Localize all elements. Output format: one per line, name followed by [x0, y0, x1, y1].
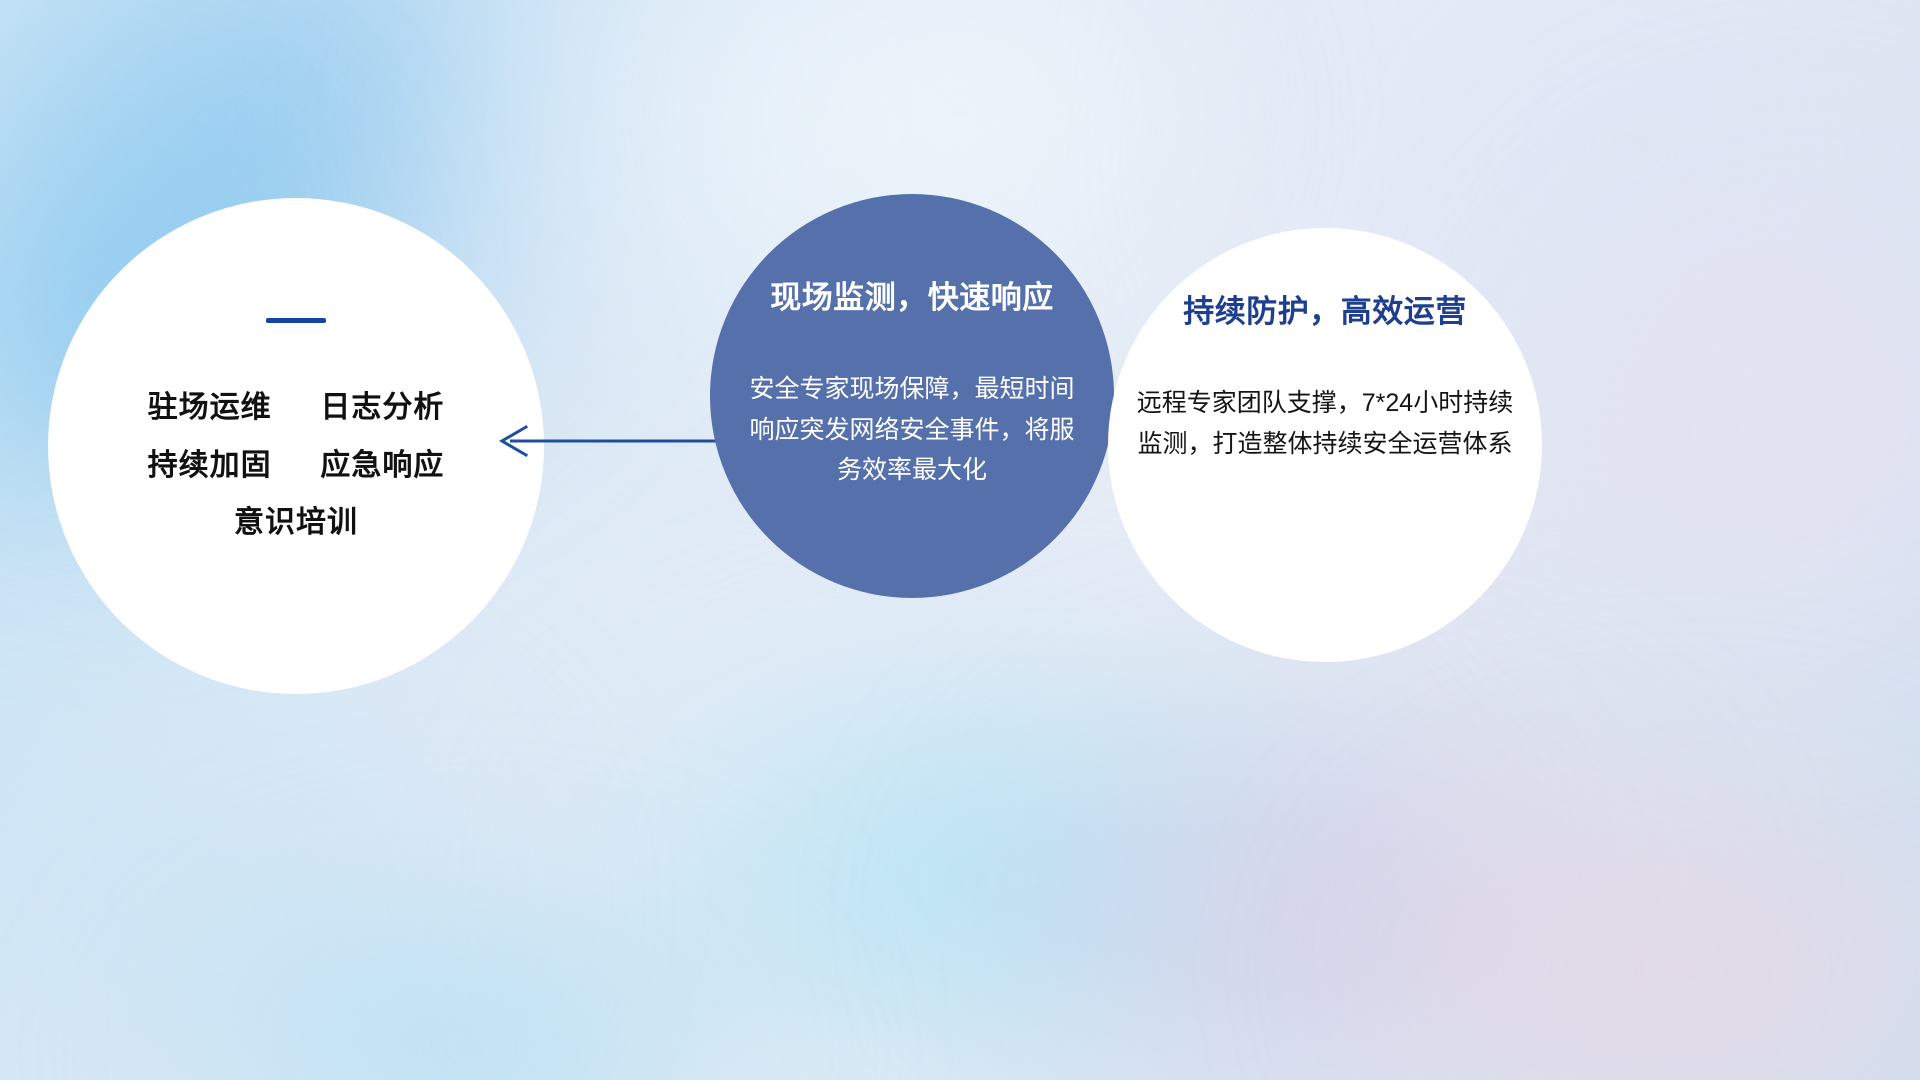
capabilities-list: 驻场运维 日志分析 持续加固 应急响应 意识培训: [148, 379, 445, 552]
capability-item-2: 日志分析: [320, 391, 444, 424]
capability-item-3: 持续加固: [148, 449, 272, 482]
capabilities-row: 持续加固 应急响应: [148, 437, 445, 495]
onsite-monitoring-circle: 现场监测，快速响应 安全专家现场保障，最短时间响应突发网络安全事件，将服务效率最…: [710, 194, 1114, 598]
onsite-monitoring-title: 现场监测，快速响应: [770, 272, 1054, 317]
capability-item-1: 驻场运维: [148, 391, 272, 424]
continuous-protection-body: 远程专家团队支撑，7*24小时持续监测，打造整体持续安全运营体系: [1132, 383, 1518, 464]
continuous-protection-title: 持续防护，高效运营: [1183, 286, 1467, 331]
accent-rule-icon: [266, 318, 326, 323]
continuous-protection-circle: 持续防护，高效运营 远程专家团队支撑，7*24小时持续监测，打造整体持续安全运营…: [1108, 228, 1542, 662]
capability-item-5: 意识培训: [234, 506, 358, 539]
left-pointing-arrow-icon: [480, 418, 730, 464]
capabilities-row: 意识培训: [148, 494, 445, 552]
capabilities-row: 驻场运维 日志分析: [148, 379, 445, 437]
onsite-monitoring-body: 安全专家现场保障，最短时间响应突发网络安全事件，将服务效率最大化: [747, 369, 1077, 491]
capabilities-circle: 驻场运维 日志分析 持续加固 应急响应 意识培训: [48, 198, 544, 694]
capability-item-4: 应急响应: [320, 449, 444, 482]
